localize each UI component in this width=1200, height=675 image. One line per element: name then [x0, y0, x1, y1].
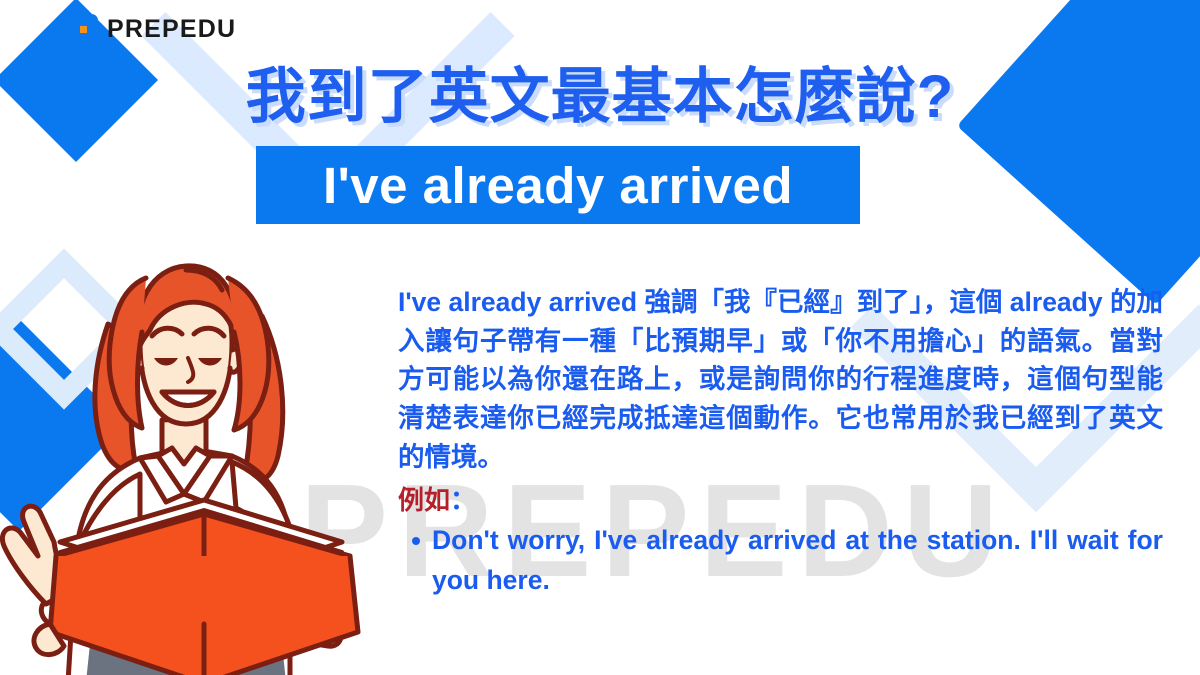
page-title: 我到了英文最基本怎麼說?	[0, 48, 1200, 135]
example-list: Don't worry, I've already arrived at the…	[398, 521, 1163, 601]
list-item: Don't worry, I've already arrived at the…	[432, 521, 1163, 601]
phrase-banner-text: I've already arrived	[323, 160, 793, 211]
explanation-paragraph: I've already arrived 強調「我『已經』到了」，這個 alre…	[398, 283, 1163, 476]
prepedu-square-logo-icon	[68, 14, 98, 44]
brand-logo: PREPEDU	[68, 14, 236, 44]
brand-name: PREPEDU	[107, 17, 236, 42]
slide-canvas: PREPEDU PREPEDU 我到了英文最基本怎麼說? I've alread…	[0, 0, 1200, 675]
woman-holding-open-book-illustration	[0, 212, 410, 675]
blue-square-right	[957, 0, 1200, 305]
example-label-colon: ：	[450, 485, 476, 515]
explanation-block: I've already arrived 強調「我『已經』到了」，這個 alre…	[398, 283, 1163, 600]
example-label: 例如：	[398, 482, 1163, 518]
